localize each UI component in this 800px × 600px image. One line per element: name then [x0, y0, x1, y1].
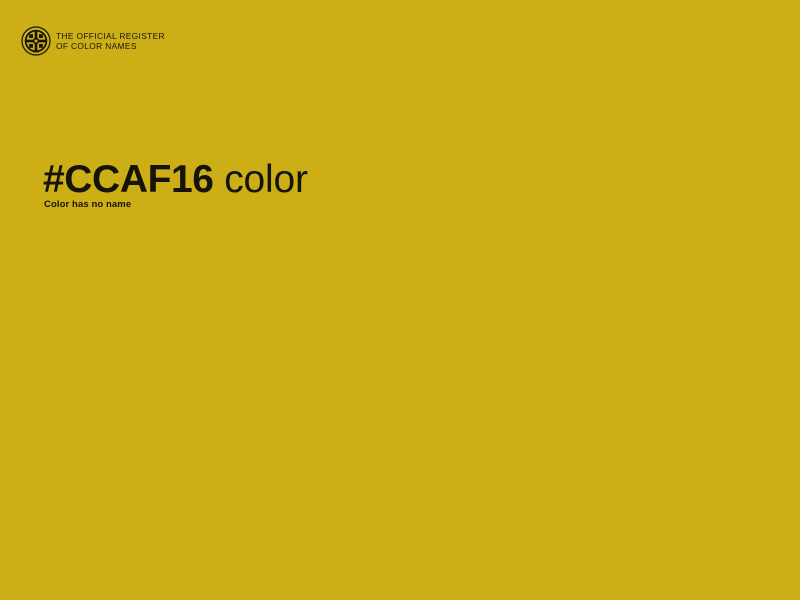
color-name-status: Color has no name [44, 199, 131, 211]
color-word-label: color [214, 158, 308, 201]
color-hex-value: #CCAF16 [43, 158, 214, 201]
brand-header[interactable]: THE OFFICIAL REGISTER OF COLOR NAMES [21, 26, 165, 56]
official-register-seal-icon [21, 26, 51, 56]
color-page: THE OFFICIAL REGISTER OF COLOR NAMES #CC… [0, 0, 800, 600]
page-title: #CCAF16 color [43, 157, 308, 203]
brand-wordmark: THE OFFICIAL REGISTER OF COLOR NAMES [56, 32, 165, 51]
brand-line-2: OF COLOR NAMES [56, 42, 165, 52]
color-swatch-field [0, 0, 800, 600]
